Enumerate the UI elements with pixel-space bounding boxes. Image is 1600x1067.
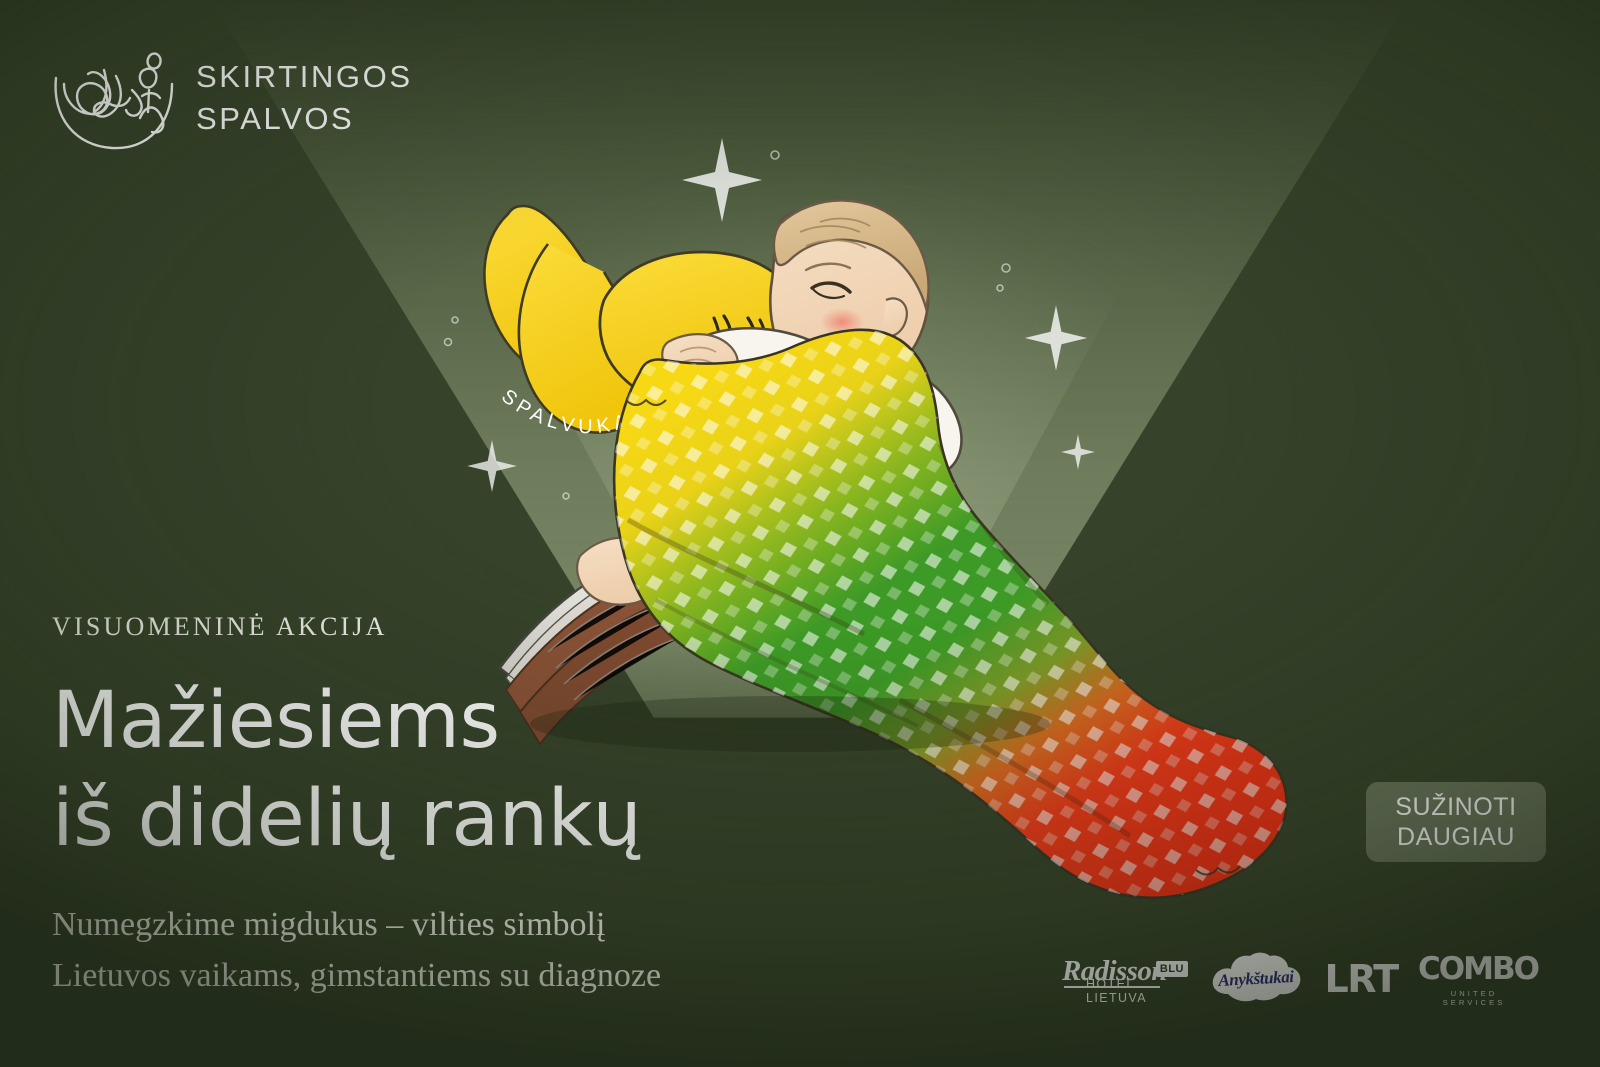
cta-label-line1: SUŽINOTI [1395, 792, 1516, 823]
copy-block: VISUOMENINĖ AKCIJA Mažiesiems iš didelių… [52, 612, 832, 1001]
skirtingos-spalvos-monogram-icon [48, 40, 178, 155]
subcopy: Numegzkime migdukus – vilties simbolį Li… [52, 899, 832, 1001]
radisson-subtitle: HOTEL LIETUVA [1086, 977, 1188, 1005]
combo-subtitle: UNITED SERVICES [1418, 989, 1530, 1007]
headline-line2: iš didelių rankų [52, 770, 832, 868]
subcopy-line2: Lietuvos vaikams, gimstantiems su diagno… [52, 950, 832, 1001]
headline-line1: Mažiesiems [52, 676, 500, 766]
learn-more-button[interactable]: SUŽINOTI DAUGIAU [1366, 782, 1546, 862]
sponsor-lrt[interactable]: LRT [1325, 957, 1398, 1001]
cta-label-line2: DAUGIAU [1397, 822, 1515, 853]
radisson-blu-badge: BLU [1156, 961, 1188, 977]
brand-logo[interactable]: SKIRTINGOS SPALVOS [48, 40, 413, 155]
page-title: Mažiesiems iš didelių rankų [52, 672, 832, 869]
sponsor-logos: Radisson BLU HOTEL LIETUVA Anykštukai LR… [1060, 948, 1530, 1010]
combo-wordmark: COMBO [1418, 954, 1530, 985]
sponsor-combo[interactable]: COMBO UNITED SERVICES [1418, 954, 1530, 1004]
brand-name-line2: SPALVOS [196, 98, 413, 140]
lrt-wordmark: LRT [1325, 957, 1398, 1001]
poster-canvas: SPALVUKAS [0, 0, 1600, 1067]
subcopy-line1: Numegzkime migdukus – vilties simbolį [52, 899, 832, 950]
brand-name: SKIRTINGOS SPALVOS [196, 56, 413, 140]
brand-name-line1: SKIRTINGOS [196, 56, 413, 98]
eyebrow-label: VISUOMENINĖ AKCIJA [52, 612, 832, 642]
sponsor-radisson-blu[interactable]: Radisson BLU HOTEL LIETUVA [1060, 953, 1188, 1005]
sponsor-anykstukai[interactable]: Anykštukai [1208, 950, 1304, 1008]
